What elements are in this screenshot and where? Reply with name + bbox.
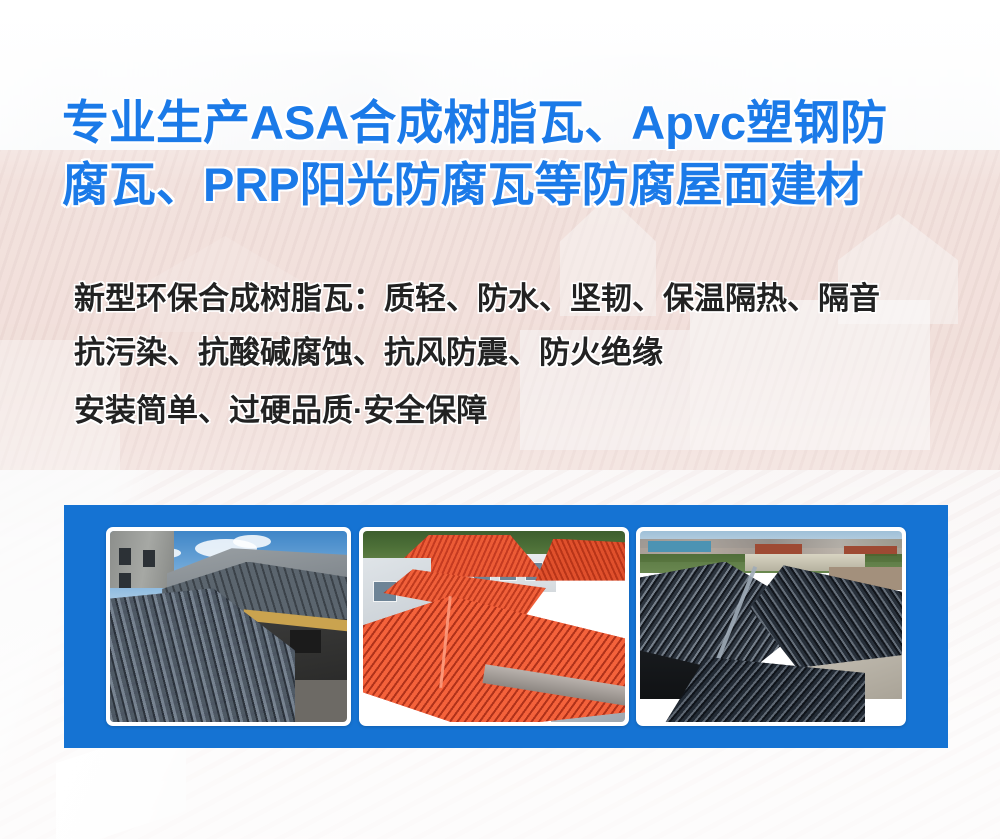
photo-gallery-panel xyxy=(64,505,948,748)
photo-2-red-tile-roof xyxy=(363,596,625,722)
photo-1-dark-window xyxy=(290,630,321,653)
grey-barrel-tile-roof-photo xyxy=(106,527,351,726)
photo-3-red-roof xyxy=(755,544,802,554)
subheadline-line-3: 安装简单、过硬品质·安全保障 xyxy=(74,380,964,442)
banner-content: 专业生产ASA合成树脂瓦、Apvc塑钢防 腐瓦、PRP阳光防腐瓦等防腐屋面建材 … xyxy=(0,0,1000,839)
photo-3-blue-roof-building xyxy=(648,541,711,552)
headline-line-2: 腐瓦、PRP阳光防腐瓦等防腐屋面建材 xyxy=(62,154,952,216)
subheadline-block: 新型环保合成树脂瓦：质轻、防水、坚韧、保温隔热、隔音 抗污染、抗酸碱腐蚀、抗风防… xyxy=(74,272,964,442)
headline-line-1: 专业生产ASA合成树脂瓦、Apvc塑钢防 xyxy=(62,92,952,154)
photo-2-image xyxy=(363,531,625,722)
photo-3-image xyxy=(640,531,902,722)
dark-grey-tile-roof-photo xyxy=(636,527,906,726)
product-promo-banner: 专业生产ASA合成树脂瓦、Apvc塑钢防 腐瓦、PRP阳光防腐瓦等防腐屋面建材 … xyxy=(0,0,1000,839)
headline-block: 专业生产ASA合成树脂瓦、Apvc塑钢防 腐瓦、PRP阳光防腐瓦等防腐屋面建材 xyxy=(62,92,952,216)
photo-1-window xyxy=(119,573,131,588)
photo-1-window xyxy=(119,548,131,565)
subheadline-line-1: 新型环保合成树脂瓦：质轻、防水、坚韧、保温隔热、隔音 xyxy=(74,272,964,326)
red-resin-tile-roof-photo xyxy=(359,527,629,726)
photo-1-window xyxy=(143,550,155,567)
photo-1-image xyxy=(110,531,347,722)
subheadline-line-2: 抗污染、抗酸碱腐蚀、抗风防震、防火绝缘 xyxy=(74,326,964,380)
